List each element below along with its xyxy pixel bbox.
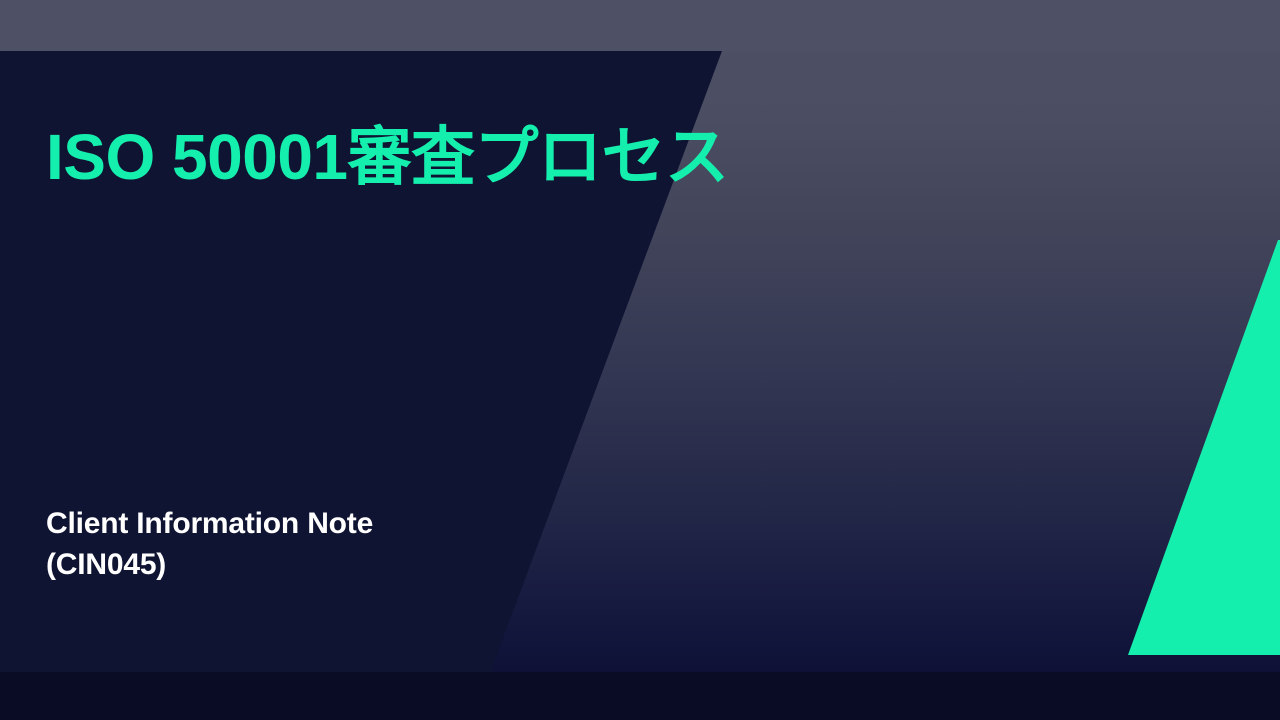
slide-subtitle: Client Information Note (CIN045): [46, 503, 606, 585]
subtitle-line-1: Client Information Note: [46, 503, 606, 544]
slide-content: ISO 50001審査プロセス Client Information Note …: [0, 0, 1280, 720]
subtitle-line-2: (CIN045): [46, 544, 606, 585]
slide-title: ISO 50001審査プロセス: [46, 122, 746, 194]
title-slide: ISO 50001審査プロセス Client Information Note …: [0, 0, 1280, 720]
